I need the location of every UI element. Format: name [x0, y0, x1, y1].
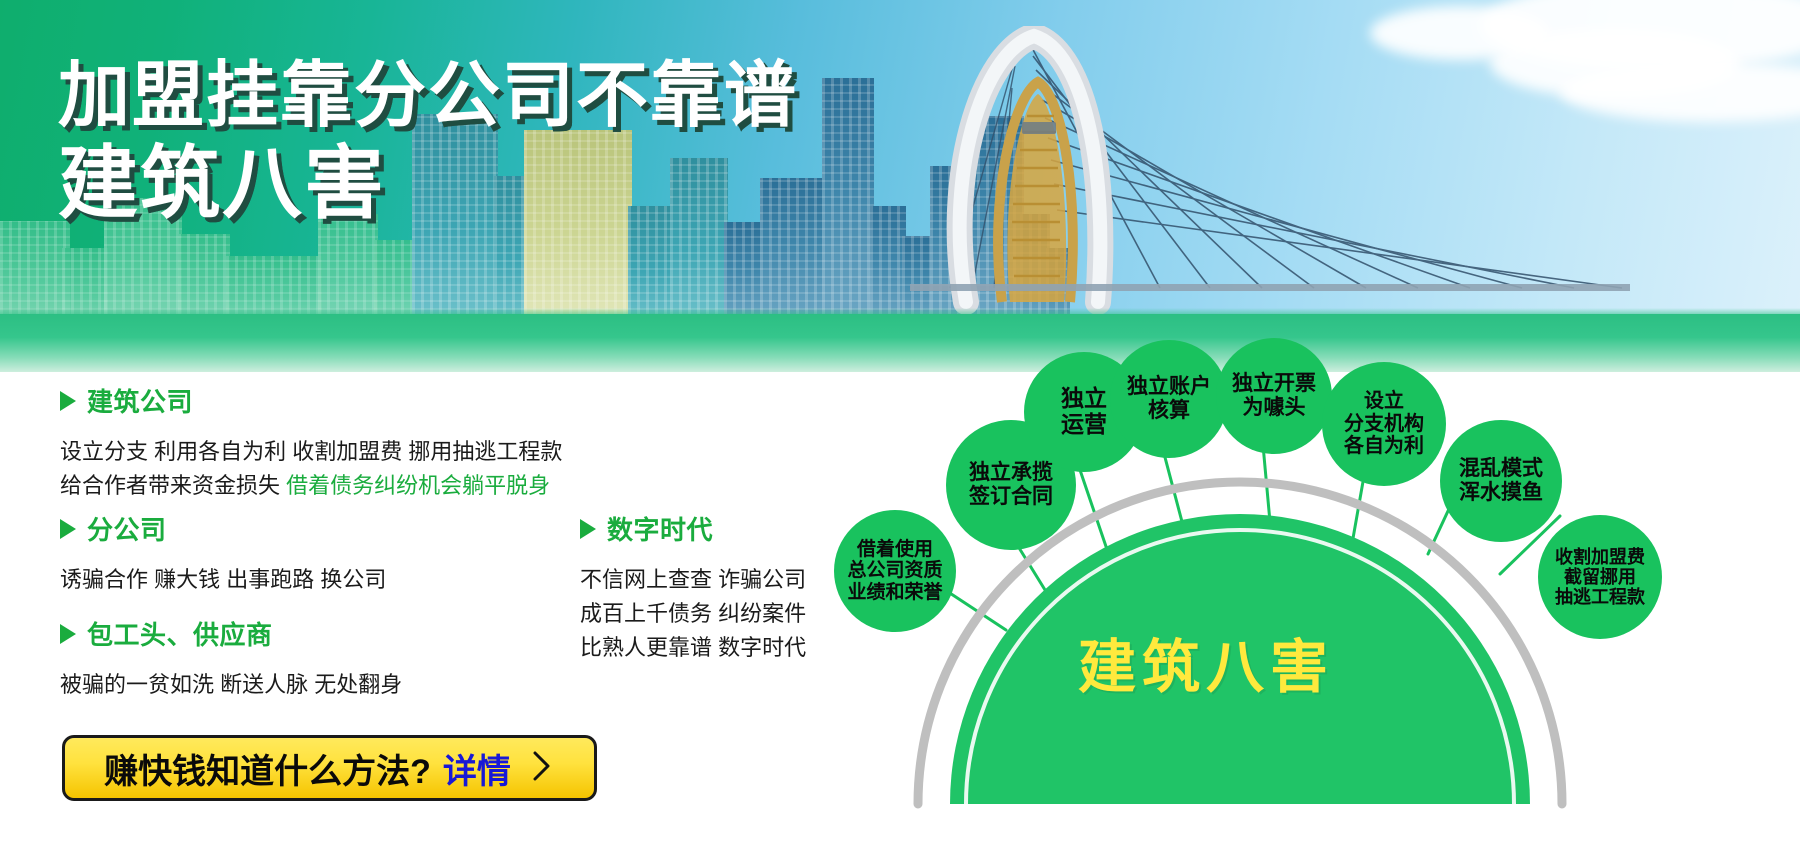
section-line: 给合作者带来资金损失 借着债务纠纷机会躺平脱身	[60, 469, 900, 503]
bubble-line: 总公司资质	[847, 560, 942, 581]
bubble-line: 独立	[1061, 385, 1107, 411]
section-contractor-supplier: 包工头、供应商 被骗的一贫如洗 断送人脉 无处翻身	[60, 615, 580, 702]
bubble-line: 独立账户	[1127, 375, 1211, 398]
cta-button[interactable]: 赚快钱知道什么方法? 详情	[62, 735, 597, 801]
hero-banner: 加盟挂靠分公司不靠谱 建筑八害	[0, 0, 1800, 372]
section-heading: 包工头、供应商	[60, 615, 580, 652]
bubble-line: 签订合同	[969, 485, 1053, 508]
bubble-independent-invoicing[interactable]: 独立开票 为噱头	[1216, 338, 1332, 454]
bubble-chaotic-model[interactable]: 混乱模式 浑水摸鱼	[1440, 420, 1562, 542]
hero-title-line1: 加盟挂靠分公司不靠谱	[58, 58, 798, 134]
section-line: 被骗的一贫如洗 断送人脉 无处翻身	[60, 668, 580, 702]
bubble-line: 浑水摸鱼	[1459, 481, 1543, 504]
section-body: 被骗的一贫如洗 断送人脉 无处翻身	[60, 668, 580, 702]
line-highlight: 借着债务纠纷机会躺平脱身	[286, 473, 550, 498]
section-line: 比熟人更靠谱 数字时代	[580, 631, 900, 665]
section-heading-label: 数字时代	[607, 510, 713, 547]
triangle-bullet-icon	[580, 519, 596, 539]
bubble-line: 抽逃工程款	[1555, 587, 1645, 607]
bubble-independent-account[interactable]: 独立账户 核算	[1110, 340, 1228, 458]
cta-link-label: 详情	[443, 744, 511, 793]
bubble-line: 分支机构	[1344, 413, 1424, 435]
bubble-diagram: 借着使用 总公司资质 业绩和荣誉 独立承揽 签订合同 独立 运营 独立账户 核算	[900, 330, 1800, 844]
triangle-bullet-icon	[60, 519, 76, 539]
line-text: 给合作者带来资金损失	[60, 473, 286, 498]
bubble-line: 独立承揽	[969, 461, 1053, 484]
section-construction-company: 建筑公司 设立分支 利用各自为利 收割加盟费 挪用抽逃工程款 给合作者带来资金损…	[60, 382, 900, 503]
chevron-right-icon	[529, 748, 555, 789]
section-line: 诱骗合作 赚大钱 出事跑路 换公司	[60, 563, 580, 597]
bubble-line: 运营	[1061, 411, 1107, 437]
bubble-line: 截留挪用	[1564, 567, 1636, 587]
section-heading: 建筑公司	[60, 382, 900, 419]
left-column: 建筑公司 设立分支 利用各自为利 收割加盟费 挪用抽逃工程款 给合作者带来资金损…	[60, 382, 900, 503]
bridge-illustration	[910, 26, 1630, 326]
bubble-line: 业绩和荣誉	[847, 582, 942, 603]
bubble-line: 为噱头	[1243, 396, 1306, 419]
section-line: 设立分支 利用各自为利 收割加盟费 挪用抽逃工程款	[60, 435, 900, 469]
bubble-borrowed-qualification[interactable]: 借着使用 总公司资质 业绩和荣誉	[834, 510, 956, 632]
hero-title: 加盟挂靠分公司不靠谱 建筑八害	[58, 58, 798, 227]
bubble-line: 设立	[1364, 390, 1404, 412]
section-heading-label: 分公司	[87, 510, 167, 547]
dome-label: 建筑八害	[1078, 620, 1334, 704]
bubble-line: 独立开票	[1232, 372, 1316, 395]
section-heading-label: 建筑公司	[87, 382, 193, 419]
bubble-harvest-franchise-fee[interactable]: 收割加盟费 截留挪用 抽逃工程款	[1538, 515, 1662, 639]
bubble-line: 收割加盟费	[1555, 547, 1645, 567]
triangle-bullet-icon	[60, 391, 76, 411]
triangle-bullet-icon	[60, 624, 76, 644]
section-body: 设立分支 利用各自为利 收割加盟费 挪用抽逃工程款 给合作者带来资金损失 借着债…	[60, 435, 900, 503]
bubble-line: 混乱模式	[1459, 457, 1543, 480]
bubble-line: 各自为利	[1344, 435, 1424, 457]
hero-title-line2: 建筑八害	[58, 142, 798, 227]
section-branch-company: 分公司 诱骗合作 赚大钱 出事跑路 换公司	[60, 510, 580, 597]
bubble-line: 借着使用	[857, 539, 933, 560]
section-heading: 分公司	[60, 510, 580, 547]
bubble-set-up-branches[interactable]: 设立 分支机构 各自为利	[1322, 362, 1446, 486]
bubble-line: 核算	[1148, 399, 1190, 422]
poster-root: 加盟挂靠分公司不靠谱 建筑八害 建筑公司 设立分支 利用各自为利 收割加盟费 挪…	[0, 0, 1800, 844]
line-text: 设立分支 利用各自为利 收割加盟费 挪用抽逃工程款	[60, 439, 562, 464]
section-body: 诱骗合作 赚大钱 出事跑路 换公司	[60, 563, 580, 597]
cta-label: 赚快钱知道什么方法?	[104, 744, 431, 793]
section-heading-label: 包工头、供应商	[87, 615, 273, 652]
